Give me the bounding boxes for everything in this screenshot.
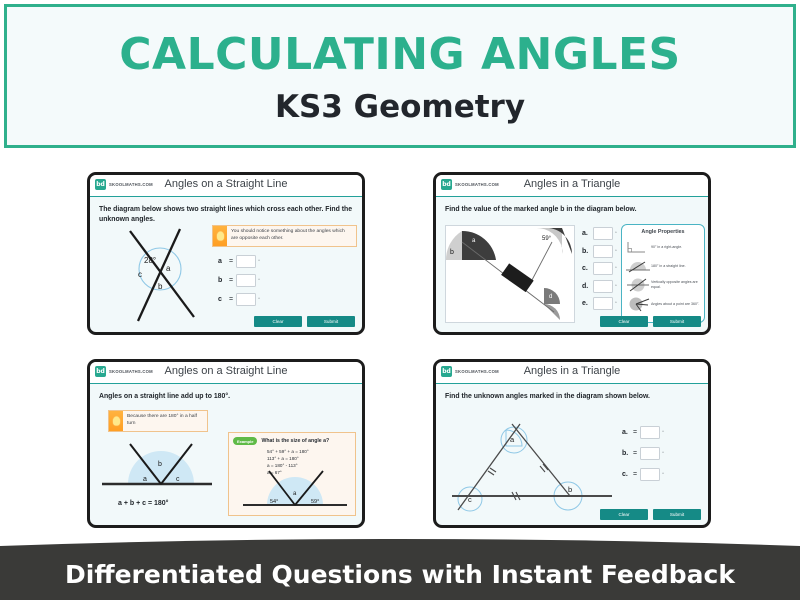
answer-row: c = ° [218, 293, 260, 306]
angle-property-item: Vertically opposite angles are equal. [622, 278, 704, 292]
lightbulb-icon [109, 411, 123, 431]
footer-banner: Differentiated Questions with Instant Fe… [0, 548, 800, 600]
svg-text:b: b [568, 485, 572, 494]
answer-input-c[interactable] [593, 262, 613, 275]
svg-text:a: a [143, 476, 147, 483]
answer-row: b. ° [582, 245, 617, 258]
hint-callout: Because there are 180° in a half turn [108, 410, 208, 432]
card-action-bar: Clear Submit [600, 316, 701, 327]
footer-curve-decoration [0, 538, 800, 552]
degree-symbol: ° [615, 249, 617, 254]
equals-sign: = [229, 277, 233, 284]
svg-text:d: d [549, 294, 552, 300]
card-title: Angles on a Straight Line [90, 178, 362, 190]
answer-label: b [218, 277, 229, 284]
angle-property-text: Vertically opposite angles are equal. [651, 280, 701, 289]
degree-symbol: ° [615, 284, 617, 289]
example-working-line: 54° + 59° + a = 180° [267, 448, 355, 455]
question-prompt: The diagram below shows two straight lin… [99, 205, 357, 225]
angle-properties-title: Angle Properties [622, 229, 704, 235]
svg-text:c: c [176, 476, 180, 483]
example-box: Example What is the size of angle a? 54°… [228, 432, 356, 516]
degree-symbol: ° [258, 259, 260, 264]
degree-symbol: ° [615, 231, 617, 236]
card-body: Find the unknown angles marked in the di… [436, 384, 708, 525]
three-angles-diagram: a b c [100, 438, 215, 496]
question-prompt: Find the unknown angles marked in the di… [445, 392, 703, 402]
slide-card-angles-straight-line-teaching[interactable]: bd SKOOLMATHS.COM Angles on a Straight L… [87, 359, 365, 528]
card-title: Angles on a Straight Line [90, 365, 362, 377]
answer-list: a = ° b = ° c = ° [218, 255, 260, 312]
slide-preview-grid: bd SKOOLMATHS.COM Angles on a Straight L… [0, 152, 800, 548]
equals-sign: = [633, 429, 637, 436]
example-question: What is the size of angle a? [261, 438, 329, 444]
card-header: bd SKOOLMATHS.COM Angles on a Straight L… [90, 175, 362, 197]
svg-text:b: b [450, 249, 454, 256]
answer-row: b = ° [218, 274, 260, 287]
angle-property-text: 90° in a right-angle. [651, 245, 682, 250]
card-title: Angles in a Triangle [436, 365, 708, 377]
triangle-with-sectors-diagram: b a 59° c d e [446, 226, 576, 324]
answer-input-c[interactable] [640, 468, 660, 481]
clear-button[interactable]: Clear [600, 316, 648, 327]
answer-label: c. [622, 471, 633, 478]
svg-text:c: c [138, 270, 142, 279]
card-title: Angles in a Triangle [436, 178, 708, 190]
slide-card-angles-straight-line-question[interactable]: bd SKOOLMATHS.COM Angles on a Straight L… [87, 172, 365, 335]
card-action-bar: Clear Submit [600, 509, 701, 520]
angle-property-text: Angles about a point are 360°. [651, 302, 699, 307]
submit-button[interactable]: Submit [653, 509, 701, 520]
card-body: Angles on a straight line add up to 180°… [90, 384, 362, 525]
example-tag: Example [233, 437, 257, 445]
clear-button[interactable]: Clear [254, 316, 302, 327]
right-angle-icon [625, 240, 651, 254]
svg-text:b: b [158, 282, 163, 291]
equals-sign: = [229, 258, 233, 265]
angle-sum-equation: a + b + c = 180° [118, 500, 168, 507]
degree-symbol: ° [615, 301, 617, 306]
degree-symbol: ° [258, 297, 260, 302]
svg-text:e: e [546, 310, 550, 316]
answer-input-c[interactable] [236, 293, 256, 306]
answer-input-a[interactable] [236, 255, 256, 268]
angle-property-item: 90° in a right-angle. [622, 240, 704, 254]
card-action-bar: Clear Submit [254, 316, 355, 327]
slide-card-angles-in-triangle-exterior[interactable]: bd SKOOLMATHS.COM Angles in a Triangle F… [433, 359, 711, 528]
svg-text:c: c [559, 244, 562, 250]
answer-label: a. [622, 429, 633, 436]
answer-input-b[interactable] [236, 274, 256, 287]
svg-text:59°: 59° [311, 499, 319, 505]
card-body: The diagram below shows two straight lin… [90, 197, 362, 332]
card-header: bd SKOOLMATHS.COM Angles on a Straight L… [90, 362, 362, 384]
question-prompt: Angles on a straight line add up to 180°… [99, 392, 357, 402]
degree-symbol: ° [662, 472, 664, 477]
answer-list: a. = ° b. = ° c. = ° [622, 426, 664, 481]
triangle-diagram-panel: b a 59° c d e [445, 225, 575, 323]
answer-input-a[interactable] [640, 426, 660, 439]
triangle-on-line-diagram: a b c [444, 410, 619, 515]
svg-text:c: c [468, 495, 472, 504]
card-header: bd SKOOLMATHS.COM Angles in a Triangle [436, 175, 708, 197]
hint-text: You should notice something about the an… [227, 226, 356, 246]
angle-property-text: 180° in a straight line. [651, 264, 686, 269]
answer-input-a[interactable] [593, 227, 613, 240]
svg-text:54°: 54° [270, 499, 278, 505]
answer-input-b[interactable] [593, 245, 613, 258]
submit-button[interactable]: Submit [307, 316, 355, 327]
slide-card-angles-in-triangle-question[interactable]: bd SKOOLMATHS.COM Angles in a Triangle F… [433, 172, 711, 335]
answer-row: c. = ° [622, 468, 664, 481]
answer-row: a = ° [218, 255, 260, 268]
diagram-given-angle: 28° [144, 256, 156, 265]
answer-row: c. ° [582, 262, 617, 275]
question-prompt: Find the value of the marked angle b in … [445, 205, 703, 215]
straight-line-angle-icon [625, 259, 651, 273]
answer-label: c. [582, 265, 593, 272]
submit-button[interactable]: Submit [653, 316, 701, 327]
answer-row: e. ° [582, 297, 617, 310]
answer-input-e[interactable] [593, 297, 613, 310]
card-body: Find the value of the marked angle b in … [436, 197, 708, 332]
answer-row: a. = ° [622, 426, 664, 439]
header-banner: CALCULATING ANGLES KS3 Geometry [4, 4, 796, 148]
card-header: bd SKOOLMATHS.COM Angles in a Triangle [436, 362, 708, 384]
answer-label: a [218, 258, 229, 265]
answer-row: b. = ° [622, 447, 664, 460]
svg-text:a: a [510, 435, 515, 444]
angle-property-item: 180° in a straight line. [622, 259, 704, 273]
svg-text:a: a [166, 264, 171, 273]
equals-sign: = [633, 450, 637, 457]
angle-properties-panel: Angle Properties 90° in a right-angle. 1… [621, 224, 705, 323]
svg-text:b: b [158, 461, 162, 468]
hint-callout: You should notice something about the an… [212, 225, 357, 247]
answer-label: e. [582, 300, 593, 307]
angle-property-item: Angles about a point are 360°. [622, 297, 704, 311]
answer-label: b. [582, 248, 593, 255]
equals-sign: = [229, 296, 233, 303]
lightbulb-icon [213, 226, 227, 246]
page-subtitle: KS3 Geometry [7, 89, 793, 125]
example-diagram: 54° a 59° [235, 459, 353, 515]
angles-about-point-icon [625, 297, 651, 311]
answer-label: d. [582, 283, 593, 290]
degree-symbol: ° [662, 430, 664, 435]
answer-row: d. ° [582, 280, 617, 293]
answer-input-b[interactable] [640, 447, 660, 460]
clear-button[interactable]: Clear [600, 509, 648, 520]
svg-text:59°: 59° [542, 236, 552, 242]
footer-text: Differentiated Questions with Instant Fe… [0, 560, 800, 589]
answer-label: c [218, 296, 229, 303]
answer-input-d[interactable] [593, 280, 613, 293]
answer-label: a. [582, 230, 593, 237]
equals-sign: = [633, 471, 637, 478]
hint-text: Because there are 180° in a half turn [123, 411, 207, 431]
vertically-opposite-icon [625, 278, 651, 292]
answer-row: a. ° [582, 227, 617, 240]
page-title: CALCULATING ANGLES [7, 29, 793, 80]
degree-symbol: ° [662, 451, 664, 456]
answer-list: a. ° b. ° c. ° d. ° [582, 227, 617, 310]
answer-label: b. [622, 450, 633, 457]
crossing-lines-diagram: 28° a b c [108, 225, 226, 325]
degree-symbol: ° [615, 266, 617, 271]
degree-symbol: ° [258, 278, 260, 283]
